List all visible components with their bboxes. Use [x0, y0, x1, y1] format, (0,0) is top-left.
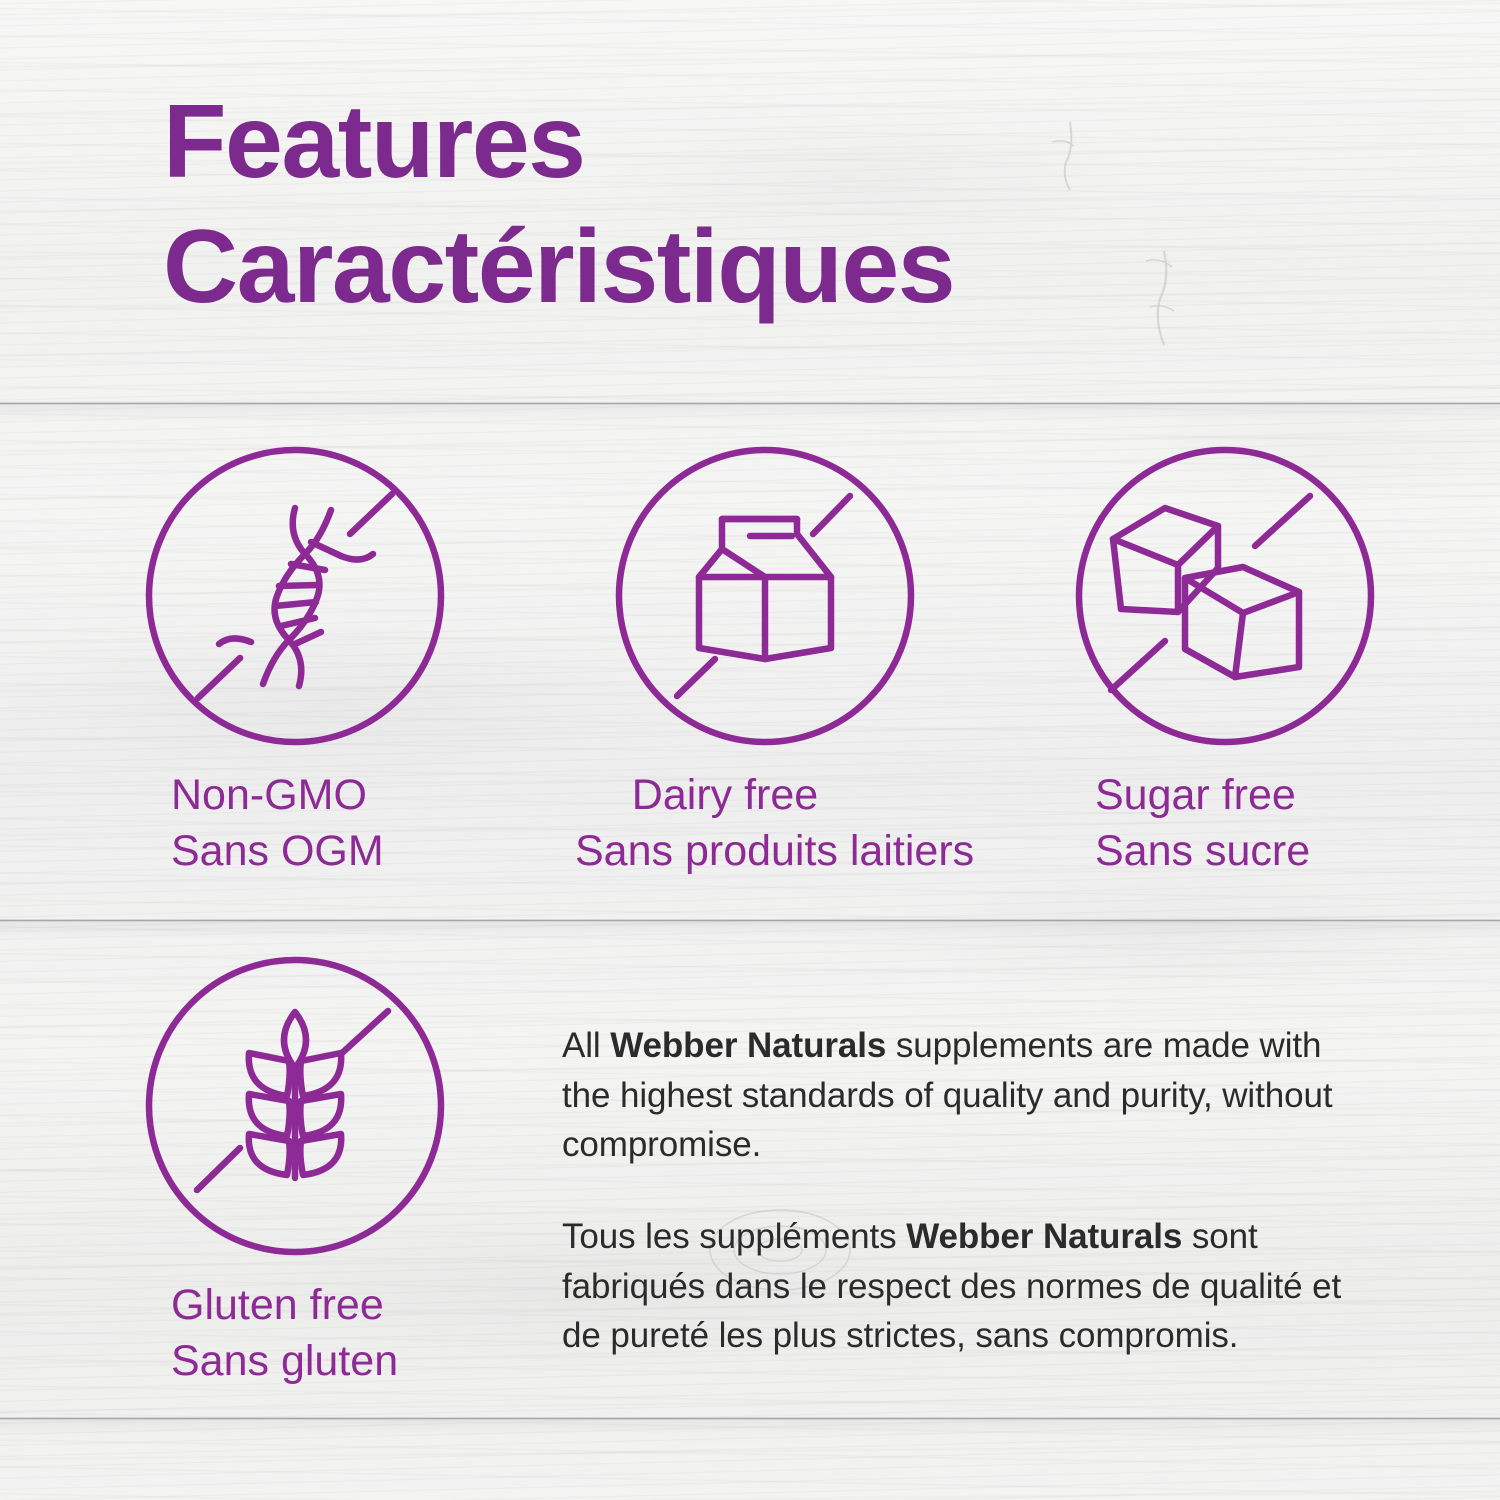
copy-fr-part1: Tous les suppléments	[562, 1217, 906, 1256]
body-copy: All Webber Naturals supplements are made…	[562, 1021, 1362, 1361]
copy-en-part1: All	[562, 1026, 610, 1065]
feature-label-en: Non-GMO	[171, 768, 445, 824]
feature-label-fr: Sans produits laitiers	[575, 824, 875, 880]
paragraph-english: All Webber Naturals supplements are made…	[562, 1021, 1362, 1170]
feature-sugar-free: Sugar free Sans sucre	[1075, 446, 1375, 880]
feature-label-fr: Sans sucre	[1095, 824, 1375, 880]
brand-name-fr: Webber Naturals	[906, 1217, 1182, 1256]
feature-gluten-free: Gluten free Sans gluten	[145, 956, 445, 1390]
feature-label-en: Sugar free	[1095, 768, 1375, 824]
feature-label-sugar-free: Sugar free Sans sucre	[1095, 768, 1375, 880]
no-sugar-cubes-icon	[1075, 446, 1375, 746]
paragraph-french: Tous les suppléments Webber Naturals son…	[562, 1212, 1362, 1361]
plank-seam-shadow-1	[0, 405, 1500, 421]
plank-seam-shadow-2	[0, 922, 1500, 938]
feature-label-fr: Sans gluten	[171, 1334, 445, 1390]
features-infographic: Features Caractéristiques	[0, 0, 1500, 1500]
feature-label-en: Dairy free	[575, 768, 875, 824]
brand-name-en: Webber Naturals	[610, 1026, 886, 1065]
no-dairy-milk-carton-icon	[615, 446, 915, 746]
title-line-english: Features	[163, 92, 1343, 193]
feature-label-fr: Sans OGM	[171, 824, 445, 880]
feature-dairy-free: Dairy free Sans produits laitiers	[615, 446, 915, 880]
no-gluten-wheat-icon	[145, 956, 445, 1256]
feature-label-non-gmo: Non-GMO Sans OGM	[171, 768, 445, 880]
page-title: Features Caractéristiques	[163, 92, 1343, 318]
feature-label-gluten-free: Gluten free Sans gluten	[171, 1278, 445, 1390]
feature-non-gmo: Non-GMO Sans OGM	[145, 446, 445, 880]
no-gmo-dna-icon	[145, 446, 445, 746]
feature-label-dairy-free: Dairy free Sans produits laitiers	[575, 768, 875, 880]
feature-label-en: Gluten free	[171, 1278, 445, 1334]
plank-seam-shadow-3	[0, 1420, 1500, 1436]
title-line-french: Caractéristiques	[163, 217, 1343, 318]
